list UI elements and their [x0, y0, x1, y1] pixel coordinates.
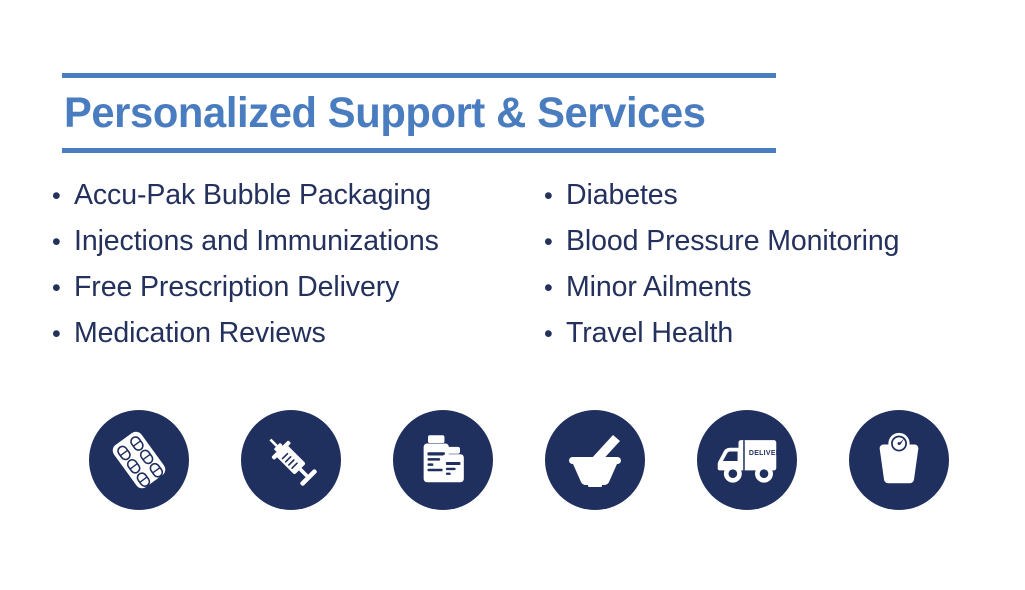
list-item: • Medication Reviews [52, 316, 544, 362]
bullet-icon: • [52, 225, 74, 259]
list-item: • Blood Pressure Monitoring [544, 224, 984, 270]
bullet-icon: • [544, 225, 566, 259]
pill-bottles-icon [412, 429, 474, 491]
delivery-truck-icon: DELIVERY [713, 429, 781, 491]
bullet-icon: • [544, 271, 566, 305]
icon-badge-weight-scale [849, 410, 949, 510]
service-label: Injections and Immunizations [74, 224, 439, 258]
list-item: • Diabetes [544, 178, 984, 224]
syringe-icon [259, 428, 323, 492]
list-item: • Free Prescription Delivery [52, 270, 544, 316]
icon-badge-delivery-truck: DELIVERY [697, 410, 797, 510]
service-label: Accu-Pak Bubble Packaging [74, 178, 431, 212]
bullet-icon: • [544, 179, 566, 213]
blister-pack-icon [107, 428, 171, 492]
bullet-icon: • [52, 317, 74, 351]
icon-badge-pill-bottles [393, 410, 493, 510]
heading-block: Personalized Support & Services [62, 73, 776, 153]
list-item: • Travel Health [544, 316, 984, 362]
bullet-icon: • [52, 271, 74, 305]
list-item: • Accu-Pak Bubble Packaging [52, 178, 544, 224]
weight-scale-icon [868, 429, 930, 491]
services-right-column: • Diabetes • Blood Pressure Monitoring •… [544, 178, 984, 362]
service-label: Free Prescription Delivery [74, 270, 399, 304]
icon-badge-syringe [241, 410, 341, 510]
service-label: Minor Ailments [566, 270, 752, 304]
icon-row: DELIVERY [89, 410, 949, 510]
service-label: Diabetes [566, 178, 678, 212]
title-rule-bottom [62, 148, 776, 153]
page-title: Personalized Support & Services [62, 78, 755, 148]
service-label: Blood Pressure Monitoring [566, 224, 899, 258]
icon-badge-mortar-pestle [545, 410, 645, 510]
slide-canvas: Personalized Support & Services • Accu-P… [0, 0, 1025, 590]
services-list: • Accu-Pak Bubble Packaging • Injections… [52, 178, 992, 362]
icon-badge-blister-pack [89, 410, 189, 510]
truck-delivery-text: DELIVERY [749, 450, 781, 457]
mortar-pestle-icon [563, 428, 627, 492]
list-item: • Minor Ailments [544, 270, 984, 316]
service-label: Medication Reviews [74, 316, 326, 350]
service-label: Travel Health [566, 316, 733, 350]
list-item: • Injections and Immunizations [52, 224, 544, 270]
bullet-icon: • [544, 317, 566, 351]
bullet-icon: • [52, 179, 74, 213]
services-left-column: • Accu-Pak Bubble Packaging • Injections… [52, 178, 544, 362]
